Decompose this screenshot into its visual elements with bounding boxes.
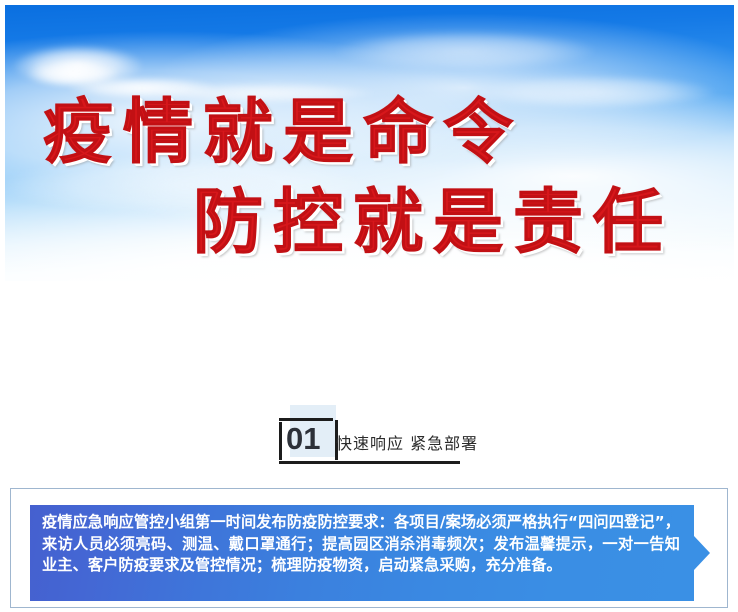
section-bar-left <box>279 422 282 460</box>
hero-slogan-line-2: 防控就是责任 <box>193 187 673 257</box>
callout-bubble: 疫情应急响应管控小组第一时间发布防疫防控要求：各项目/案场必须严格执行“四问四登… <box>30 505 694 601</box>
callout-arrow-icon <box>694 536 710 570</box>
hero-banner: 疫情就是命令 防控就是责任 <box>5 5 734 281</box>
hero-slogan-group: 疫情就是命令 防控就是责任 <box>5 5 734 281</box>
section-number-text: 01 <box>286 421 320 457</box>
section-rule-bottom <box>279 461 460 464</box>
section-heading: 01 快速响应 紧急部署 <box>0 402 738 472</box>
callout-body-text: 疫情应急响应管控小组第一时间发布防疫防控要求：各项目/案场必须严格执行“四问四登… <box>42 512 680 577</box>
section-title-text: 快速响应 紧急部署 <box>336 430 478 454</box>
hero-slogan-line-1: 疫情就是命令 <box>43 97 523 167</box>
